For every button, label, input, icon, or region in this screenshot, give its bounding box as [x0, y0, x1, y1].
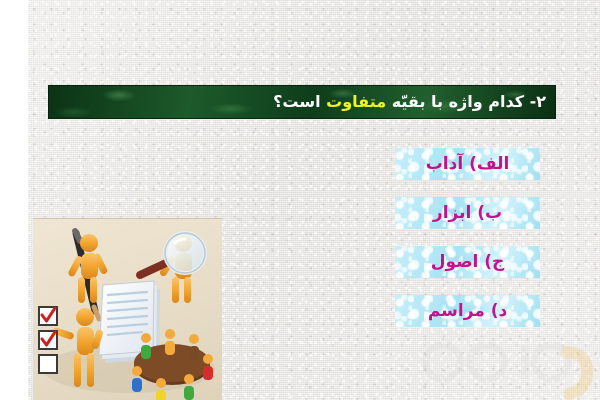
- checkbox-checked-1: [39, 307, 57, 325]
- checkbox-unchecked-3: [39, 355, 57, 373]
- checklist-icon: [39, 307, 57, 373]
- question-banner: ۲- کدام واژه با بقیّه متفاوت است؟: [48, 85, 556, 119]
- slide-canvas: ۲- کدام واژه با بقیّه متفاوت است؟ الف) آ…: [0, 0, 600, 400]
- question-text: ۲- کدام واژه با بقیّه متفاوت است؟: [273, 94, 546, 110]
- option-label: ب) ابزار: [433, 205, 502, 222]
- slide-left-margin-strip: [0, 0, 28, 400]
- question-text-after: است؟: [273, 92, 326, 111]
- option-jim[interactable]: ج) اصول: [395, 246, 540, 278]
- option-label: الف) آداب: [426, 156, 510, 173]
- question-text-highlight: متفاوت: [326, 92, 386, 111]
- option-label: ج) اصول: [431, 254, 505, 271]
- question-text-before: ۲- کدام واژه با بقیّه: [386, 92, 546, 111]
- checkbox-checked-2: [39, 331, 57, 349]
- option-alef[interactable]: الف) آداب: [395, 148, 540, 180]
- option-dal[interactable]: د) مراسم: [395, 295, 540, 327]
- magnifying-glass-icon: [140, 233, 205, 275]
- option-be[interactable]: ب) ابزار: [395, 197, 540, 229]
- office-teamwork-clipart-icon: [33, 219, 222, 400]
- option-label: د) مراسم: [428, 303, 507, 320]
- illustration-panel: [33, 218, 222, 400]
